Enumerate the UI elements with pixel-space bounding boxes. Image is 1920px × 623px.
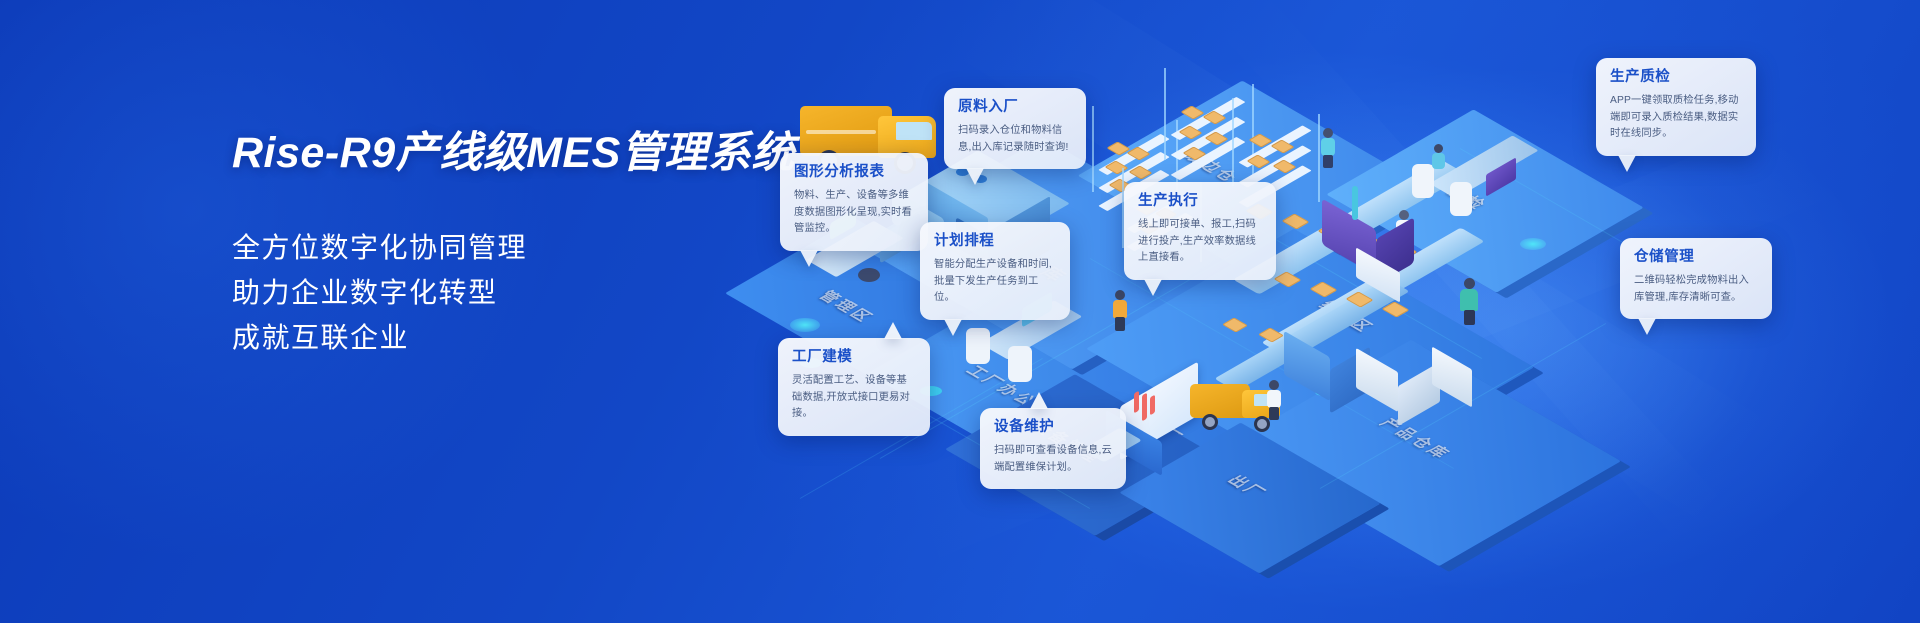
subtitle-line-3: 成就互联企业 [232,315,832,360]
callout-desc-execution: 线上即可接单、报工,扫码进行投产,生产效率数据线上直接看。 [1138,217,1262,267]
callout-title-modeling: 工厂建模 [792,350,916,366]
callout-tail-execution [1144,279,1162,296]
callout-title-report: 图形分析报表 [794,165,914,181]
analytics-chart-bar [1134,391,1139,414]
worker-head [1464,278,1475,289]
callout-title-execution: 生产执行 [1138,194,1262,210]
callout-card-maintenance[interactable]: 设备维护 扫码即可查看设备信息,云端配置维保计划。 [980,408,1126,489]
callout-desc-report: 物料、生产、设备等多维度数据图形化呈现,实时看管监控。 [794,188,914,238]
worker-torso [1267,390,1281,408]
callout-card-warehouse[interactable]: 仓储管理 二维码轻松完成物料出入库管理,库存清晰可查。 [1620,238,1772,319]
callout-tail-scheduling [944,319,962,336]
rack-post [1092,106,1094,192]
shipping-truck-wheel-rear [1202,414,1218,430]
callout-tail-material-in [966,168,984,185]
callout-tail-maintenance [1030,392,1048,409]
shipping-truck-body [1190,384,1250,418]
rack-post [1232,98,1234,186]
worker-legs [1115,317,1125,331]
machine-arm [1352,186,1358,220]
inspection-chair-2 [1450,182,1472,216]
office-chair-2 [966,328,990,364]
office-chair-3 [1008,346,1032,382]
callout-desc-scheduling: 智能分配生产设备和时间,批量下发生产任务到工位。 [934,257,1056,307]
inspection-chair-1 [1412,164,1434,198]
callout-title-material-in: 原料入厂 [958,100,1072,116]
callout-card-modeling[interactable]: 工厂建模 灵活配置工艺、设备等基础数据,开放式接口更易对接。 [778,338,930,436]
callout-tail-quality [1618,155,1636,172]
callout-desc-warehouse: 二维码轻松完成物料出入库管理,库存清晰可查。 [1634,273,1758,306]
callout-desc-material-in: 扫码录入仓位和物料信息,出入库记录随时查询! [958,123,1072,156]
shipping-truck [1190,376,1300,446]
callout-title-maintenance: 设备维护 [994,420,1112,436]
callout-title-warehouse: 仓储管理 [1634,250,1758,266]
callout-desc-quality: APP一键领取质检任务,移动端即可录入质检结果,数据实时在线同步。 [1610,93,1742,143]
accent-glow-1 [790,318,820,332]
worker-torso [1460,289,1478,311]
worker-operator-1 [1112,290,1128,330]
analytics-chart-bar [1150,395,1155,416]
page-title: Rise-R9产线级MES管理系统 [232,128,832,180]
worker-legs [1323,155,1333,168]
worker-head [1323,128,1333,138]
hero-text-block: Rise-R9产线级MES管理系统 全方位数字化协同管理 助力企业数字化转型 成… [232,128,832,361]
shipping-worker [1266,380,1282,420]
office-chair-1 [858,268,880,282]
worker-inspector [1320,128,1336,168]
worker-head [1434,144,1443,153]
callout-tail-modeling [884,322,902,339]
worker-legs [1269,407,1279,420]
worker-torso [1113,300,1127,318]
inspector-1 [1432,144,1446,178]
callout-card-execution[interactable]: 生产执行 线上即可接单、报工,扫码进行投产,生产效率数据线上直接看。 [1124,182,1276,280]
mes-promo-banner: Rise-R9产线级MES管理系统 全方位数字化协同管理 助力企业数字化转型 成… [0,0,1920,623]
worker-legs [1464,310,1475,325]
truck-stripe [806,130,876,134]
worker-operator-3 [1460,278,1478,324]
analytics-chart-bar [1142,393,1147,422]
callout-desc-modeling: 灵活配置工艺、设备等基础数据,开放式接口更易对接。 [792,373,916,423]
worker-torso [1432,153,1445,169]
callout-card-report[interactable]: 图形分析报表 物料、生产、设备等多维度数据图形化呈现,实时看管监控。 [780,153,928,251]
callout-tail-report [800,250,818,267]
callout-card-material-in[interactable]: 原料入厂 扫码录入仓位和物料信息,出入库记录随时查询! [944,88,1086,169]
callout-title-quality: 生产质检 [1610,70,1742,86]
callout-card-scheduling[interactable]: 计划排程 智能分配生产设备和时间,批量下发生产任务到工位。 [920,222,1070,320]
accent-glow-2 [1520,238,1546,250]
truck-window [896,122,932,140]
worker-head [1115,290,1125,300]
worker-torso [1321,138,1335,156]
callout-tail-warehouse [1638,318,1656,335]
callout-card-quality[interactable]: 生产质检 APP一键领取质检任务,移动端即可录入质检结果,数据实时在线同步。 [1596,58,1756,156]
worker-head [1399,210,1409,220]
rack-post [1164,68,1166,160]
callout-desc-maintenance: 扫码即可查看设备信息,云端配置维保计划。 [994,443,1112,476]
callout-title-scheduling: 计划排程 [934,234,1056,250]
subtitle-line-1: 全方位数字化协同管理 [232,225,832,270]
worker-head [1269,380,1279,390]
